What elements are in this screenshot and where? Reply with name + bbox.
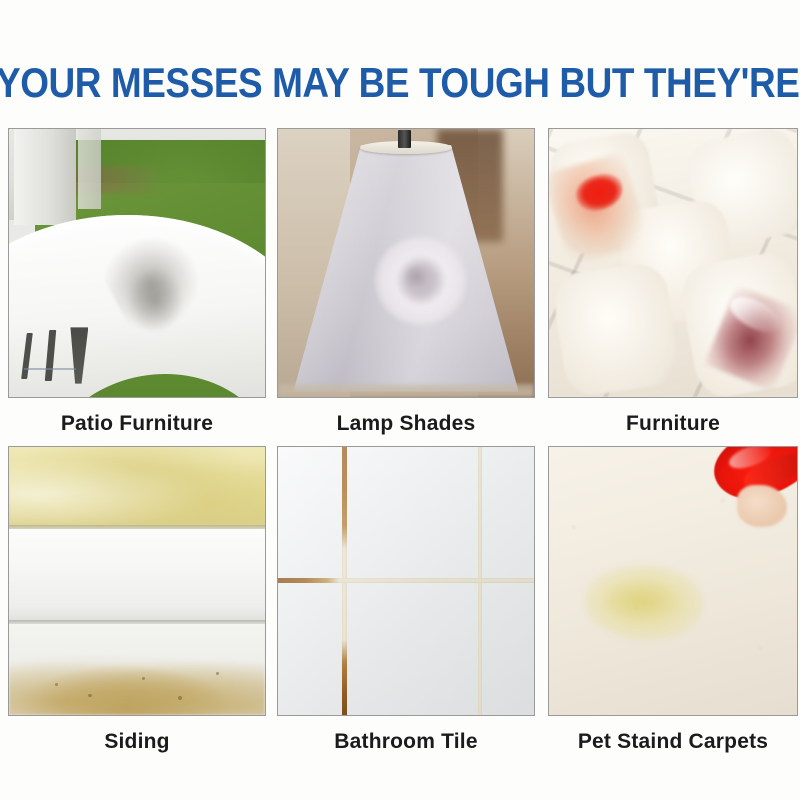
siding-band-top-texture bbox=[9, 447, 265, 525]
pet-stain-carpet-photo bbox=[548, 446, 798, 716]
grime-stain-core bbox=[127, 268, 183, 332]
stain-center bbox=[403, 266, 429, 287]
patio-furniture-photo bbox=[8, 128, 266, 398]
grid-cell-siding[interactable]: Siding bbox=[8, 446, 266, 754]
caption-furniture: Furniture bbox=[548, 412, 798, 436]
fence-post bbox=[14, 129, 75, 225]
caption-lamp-shades: Lamp Shades bbox=[277, 412, 535, 436]
caption-pet-stain-carpets: Pet Staind Carpets bbox=[548, 730, 798, 754]
dirt-speck bbox=[55, 683, 58, 686]
grid-cell-lamp-shades[interactable]: Lamp Shades bbox=[277, 128, 535, 436]
dirt-stain-region bbox=[9, 651, 265, 715]
table-surface bbox=[278, 384, 534, 397]
infographic-page: YOUR MESSES MAY BE TOUGH BUT THEY'RE NOT… bbox=[0, 0, 800, 800]
chair-cutout bbox=[40, 374, 266, 398]
tile-lighting-overlay bbox=[278, 447, 534, 715]
caption-patio-furniture: Patio Furniture bbox=[8, 412, 266, 436]
grid-cell-furniture[interactable]: Furniture bbox=[548, 128, 798, 436]
headline-container: YOUR MESSES MAY BE TOUGH BUT THEY'RE NOT… bbox=[0, 60, 800, 112]
pet-stain-core bbox=[604, 581, 678, 621]
fence-post-far bbox=[78, 129, 101, 209]
chair-edge-line bbox=[24, 368, 75, 370]
page-title: YOUR MESSES MAY BE TOUGH BUT THEY'RE NOT… bbox=[0, 60, 800, 106]
siding-band-clean-middle bbox=[9, 529, 265, 620]
dirt-speck bbox=[88, 694, 92, 697]
bathroom-tile-photo bbox=[277, 446, 535, 716]
lamp-shade-photo bbox=[277, 128, 535, 398]
grid-row-1: Patio Furniture Lamp Shades bbox=[0, 128, 800, 446]
caption-bathroom-tile: Bathroom Tile bbox=[277, 730, 535, 754]
siding-photo bbox=[8, 446, 266, 716]
grid-row-2: Siding Bathroom Tile bbox=[0, 446, 800, 764]
grid-cell-patio-furniture[interactable]: Patio Furniture bbox=[8, 128, 266, 436]
stain-examples-grid: Patio Furniture Lamp Shades bbox=[0, 128, 800, 764]
grid-cell-bathroom-tile[interactable]: Bathroom Tile bbox=[277, 446, 535, 754]
furniture-photo bbox=[548, 128, 798, 398]
grid-cell-pet-stain-carpets[interactable]: Pet Staind Carpets bbox=[548, 446, 798, 754]
quilt-puff-4 bbox=[551, 261, 681, 398]
lamp-finial bbox=[398, 130, 411, 147]
caption-siding: Siding bbox=[8, 730, 266, 754]
